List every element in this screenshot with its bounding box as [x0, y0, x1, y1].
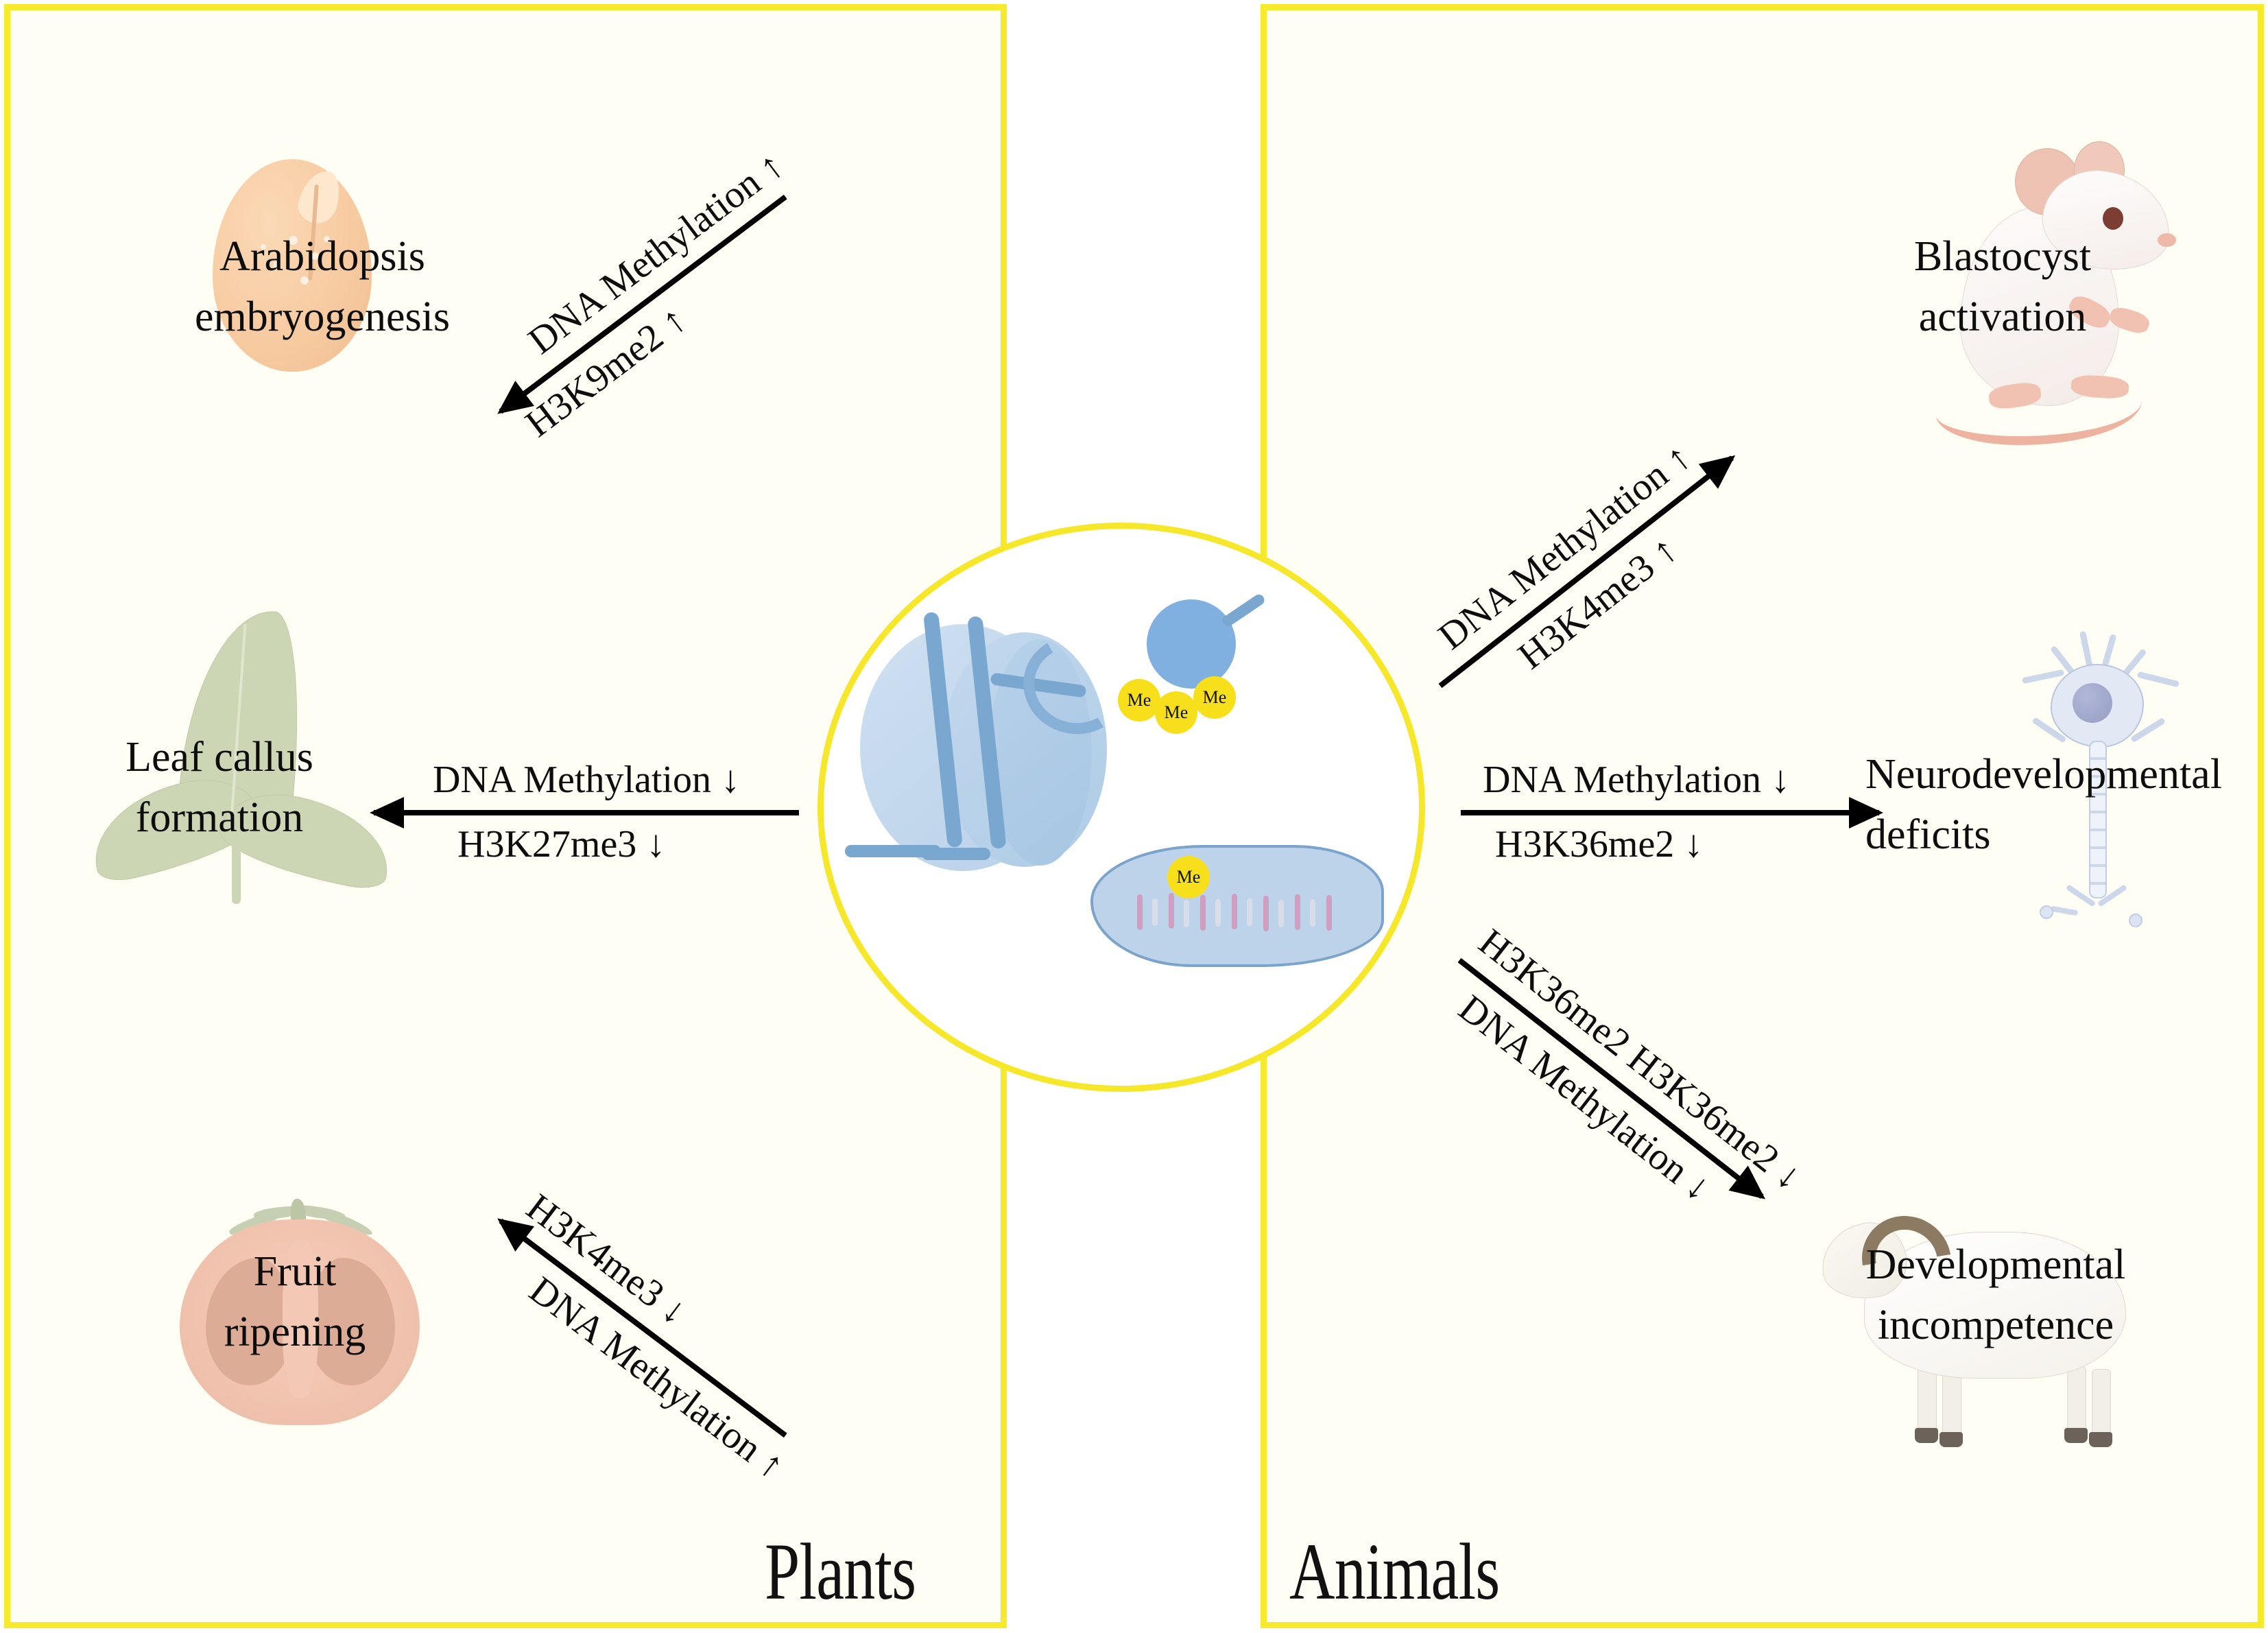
- label-leaf-callus-formation: Leaf callus formation: [75, 727, 363, 848]
- arrow-neurodevelopmental-bottom-label: H3K36me2 ↓: [1495, 822, 1703, 866]
- methyl-badge-4: Me: [1167, 856, 1210, 898]
- arrow-leaf-callus-bottom-label: H3K27me3 ↓: [457, 822, 665, 866]
- histone-tail-ball: [1147, 599, 1236, 689]
- dna-helix: [1133, 893, 1339, 933]
- label-developmental-incompetence: Developmental incompetence: [1817, 1235, 2174, 1355]
- methyl-badge-1: Me: [1118, 679, 1160, 722]
- methyl-badge-2: Me: [1155, 691, 1197, 734]
- panel-title-animals: Animals: [1289, 1531, 1499, 1612]
- label-blastocyst-activation: Blastocyst activation: [1845, 226, 2160, 347]
- nucleosome-illustration: Me Me Me Me: [817, 523, 1413, 1080]
- label-fruit-ripening: Fruit ripening: [182, 1241, 408, 1362]
- label-arabidopsis-embryogenesis: Arabidopsis embryogenesis: [171, 226, 473, 347]
- label-neurodevelopmental-deficits: Neurodevelopmental deficits: [1865, 744, 2268, 865]
- arrow-leaf-callus-top-label: DNA Methylation ↓: [433, 758, 740, 802]
- arrow-neurodevelopmental-top-label: DNA Methylation ↓: [1483, 758, 1790, 802]
- panel-title-plants: Plants: [765, 1531, 916, 1612]
- methyl-badge-3: Me: [1193, 676, 1236, 719]
